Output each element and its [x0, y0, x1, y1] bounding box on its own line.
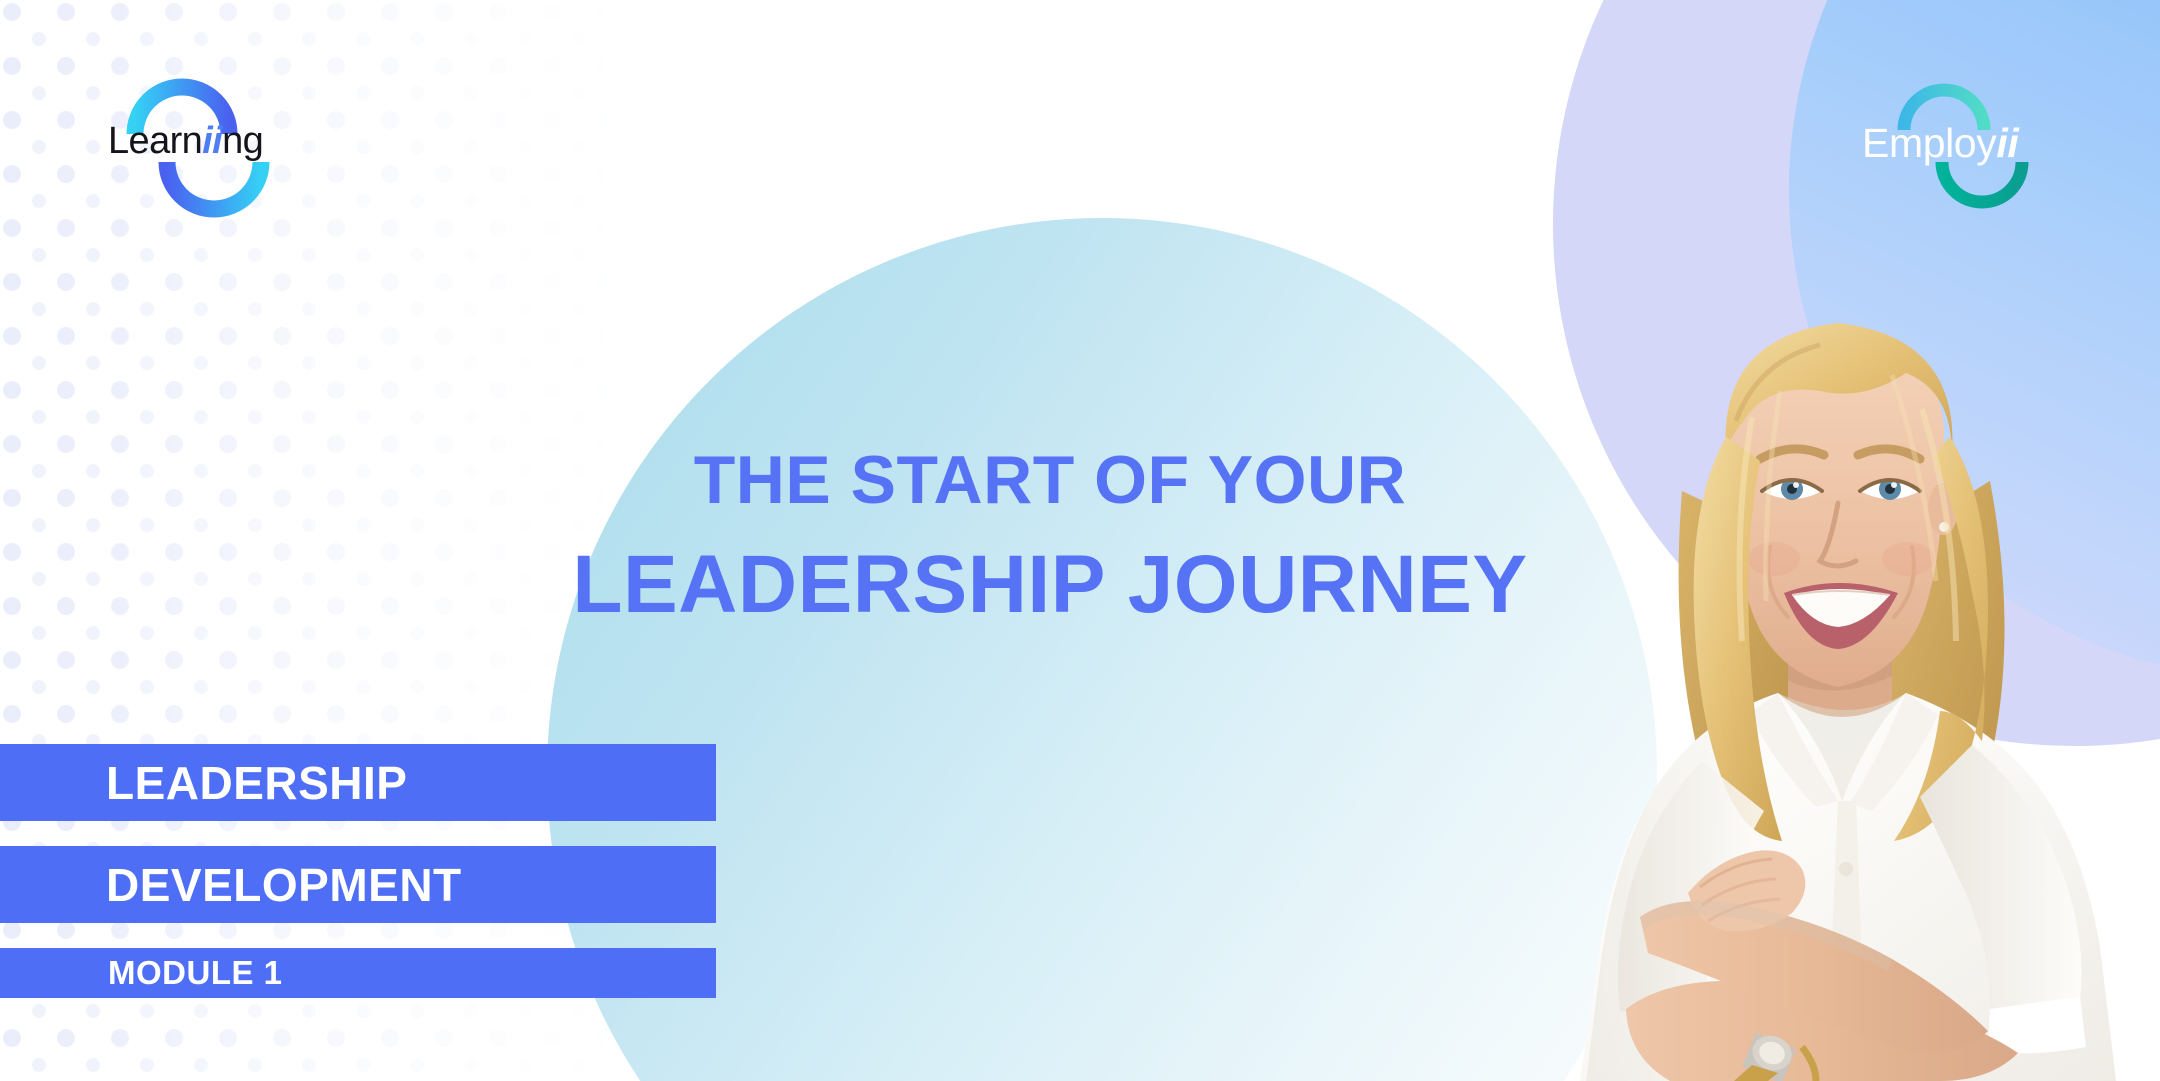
learniing-word-prefix: Learn: [108, 120, 202, 162]
learniing-word-suffix: ng: [222, 120, 263, 162]
learniing-word-accent: ii: [202, 120, 222, 162]
banner-leadership: LEADERSHIP: [0, 744, 716, 821]
slide-canvas: Learniing: [0, 0, 2160, 1081]
headline-line-2: LEADERSHIP JOURNEY: [520, 544, 1580, 626]
learniing-arc-bottom-icon: [158, 160, 270, 223]
banner-module-label: MODULE 1: [108, 954, 283, 992]
employii-logo[interactable]: Employii: [1862, 80, 2062, 210]
banner-development-label: DEVELOPMENT: [106, 858, 462, 912]
banner-module: MODULE 1: [0, 948, 716, 998]
learniing-wordmark: Learniing: [108, 120, 258, 163]
banner-leadership-label: LEADERSHIP: [106, 756, 407, 810]
banner-development: DEVELOPMENT: [0, 846, 716, 923]
employii-arc-bottom-icon: [1934, 160, 2030, 217]
learniing-logo[interactable]: Learniing: [108, 78, 258, 208]
presenter-portrait: [1520, 241, 2160, 1081]
headline: THE START OF YOUR LEADERSHIP JOURNEY: [520, 446, 1580, 626]
headline-line-1: THE START OF YOUR: [520, 446, 1580, 514]
